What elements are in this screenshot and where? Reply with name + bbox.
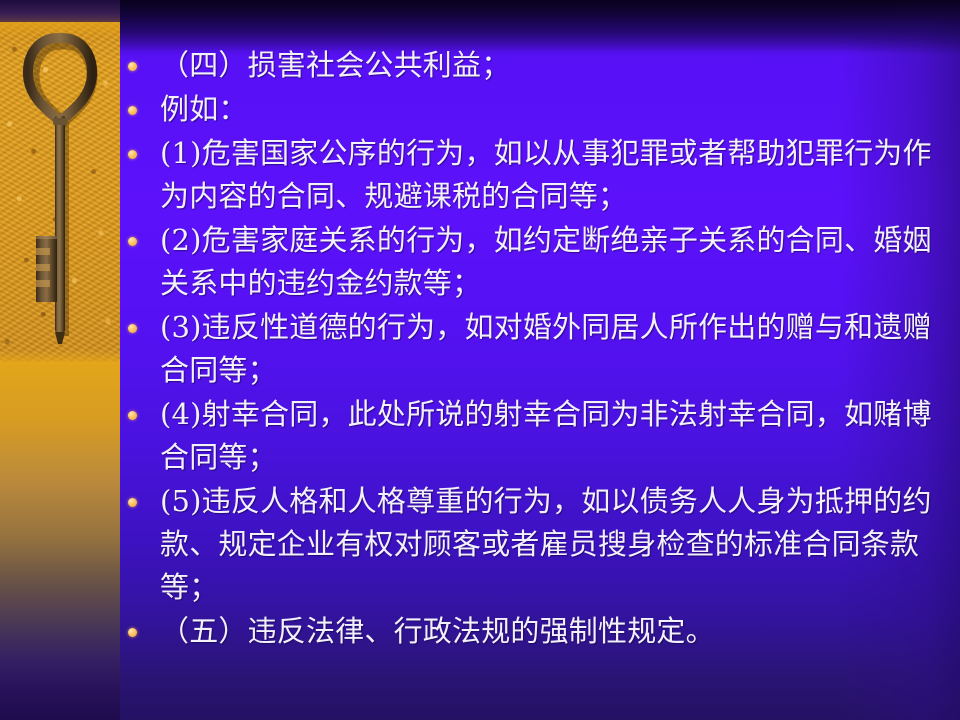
bullet-text: (3)违反性道德的行为，如对婚外同居人所作出的赠与和遗赠合同等；	[160, 306, 960, 392]
bullet-text: (5)违反人格和人格尊重的行为，如以债务人人身为抵押的约款、规定企业有权对顾客或…	[160, 480, 960, 609]
bullet-text: (1)危害国家公序的行为，如以从事犯罪或者帮助犯罪行为作为内容的合同、规避课税的…	[160, 132, 960, 218]
list-item[interactable]: (1)危害国家公序的行为，如以从事犯罪或者帮助犯罪行为作为内容的合同、规避课税的…	[120, 132, 960, 218]
sidebar-decoration	[0, 0, 120, 720]
bullet-text: （五）违反法律、行政法规的强制性规定。	[160, 610, 960, 653]
list-item[interactable]: (2)危害家庭关系的行为，如约定断绝亲子关系的合同、婚姻关系中的违约金约款等；	[120, 219, 960, 305]
bullet-dot-icon	[128, 324, 137, 333]
bullet-dot-icon	[128, 62, 137, 71]
key-icon	[0, 22, 120, 362]
slide-content: （四）损害社会公共利益； 例如： (1)危害国家公序的行为，如以从事犯罪或者帮助…	[120, 0, 960, 720]
list-item[interactable]: (4)射幸合同，此处所说的射幸合同为非法射幸合同，如赌博合同等；	[120, 393, 960, 479]
bullet-dot-icon	[128, 150, 137, 159]
bullet-text: （四）损害社会公共利益；	[160, 44, 960, 87]
bullet-list: （四）损害社会公共利益； 例如： (1)危害国家公序的行为，如以从事犯罪或者帮助…	[120, 0, 960, 653]
list-item[interactable]: （五）违反法律、行政法规的强制性规定。	[120, 610, 960, 653]
bullet-dot-icon	[128, 106, 137, 115]
list-item[interactable]: (5)违反人格和人格尊重的行为，如以债务人人身为抵押的约款、规定企业有权对顾客或…	[120, 480, 960, 609]
bullet-dot-icon	[128, 498, 137, 507]
bullet-text: (4)射幸合同，此处所说的射幸合同为非法射幸合同，如赌博合同等；	[160, 393, 960, 479]
bullet-dot-icon	[128, 237, 137, 246]
list-item[interactable]: (3)违反性道德的行为，如对婚外同居人所作出的赠与和遗赠合同等；	[120, 306, 960, 392]
bullet-text: 例如：	[160, 88, 960, 131]
bullet-dot-icon	[128, 411, 137, 420]
slide-canvas: （四）损害社会公共利益； 例如： (1)危害国家公序的行为，如以从事犯罪或者帮助…	[0, 0, 960, 720]
list-item[interactable]: （四）损害社会公共利益；	[120, 44, 960, 87]
list-item[interactable]: 例如：	[120, 88, 960, 131]
bullet-dot-icon	[128, 628, 137, 637]
bullet-text: (2)危害家庭关系的行为，如约定断绝亲子关系的合同、婚姻关系中的违约金约款等；	[160, 219, 960, 305]
